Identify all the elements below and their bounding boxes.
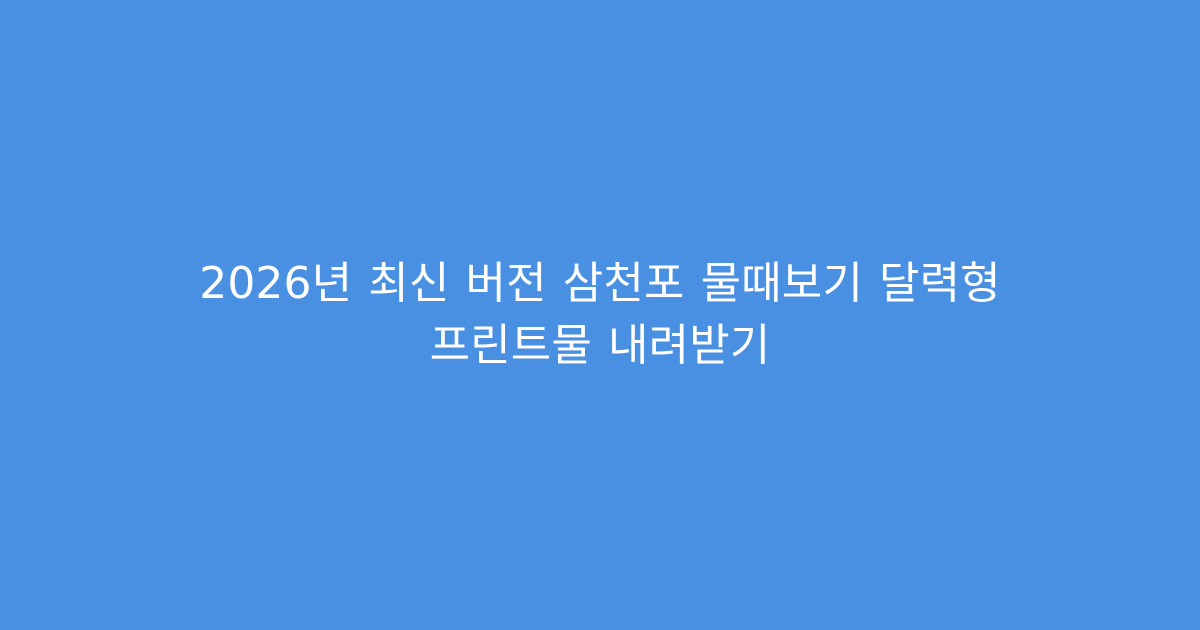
- banner-content: 2026년 최신 버전 삼천포 물때보기 달력형 프린트물 내려받기: [100, 253, 1100, 377]
- banner-card: 2026년 최신 버전 삼천포 물때보기 달력형 프린트물 내려받기: [0, 0, 1200, 630]
- banner-title: 2026년 최신 버전 삼천포 물때보기 달력형 프린트물 내려받기: [100, 253, 1100, 377]
